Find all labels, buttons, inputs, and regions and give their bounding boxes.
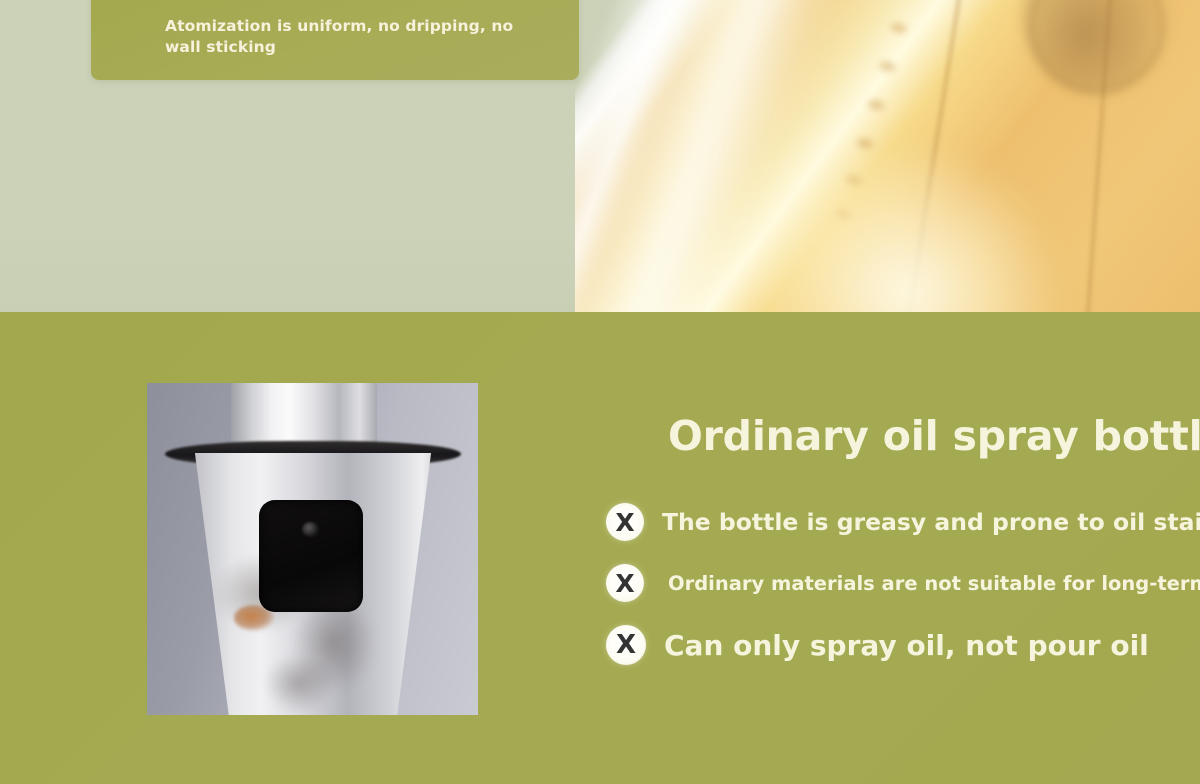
product-photo-nozzle-dot [302,522,319,537]
page-title: Ordinary oil spray bottle [668,412,1200,460]
top-section: Atomization is uniform, no dripping, no … [0,0,1200,312]
product-photo-ordinary-bottle [147,383,478,715]
drawback-list: X The bottle is greasy and prone to oil … [606,503,1186,688]
product-photo-silver-cap [231,383,377,449]
callout-text: Atomization is uniform, no dripping, no … [165,16,525,59]
callout-box: Atomization is uniform, no dripping, no … [91,0,579,80]
hero-photo-golden-bottle [575,0,1200,312]
list-item: X Can only spray oil, not pour oil [606,625,1186,665]
x-mark-icon: X [606,564,644,602]
list-item: X Ordinary materials are not suitable fo… [606,564,1186,602]
x-mark-icon: X [606,503,644,541]
list-item: X The bottle is greasy and prone to oil … [606,503,1186,541]
x-mark-icon: X [606,625,646,665]
list-item-label: Can only spray oil, not pour oil [664,629,1149,662]
product-comparison-poster: Atomization is uniform, no dripping, no … [0,0,1200,784]
list-item-label: Ordinary materials are not suitable for … [668,572,1200,595]
product-photo-nozzle-window [259,500,363,612]
list-item-label: The bottle is greasy and prone to oil st… [662,508,1200,536]
